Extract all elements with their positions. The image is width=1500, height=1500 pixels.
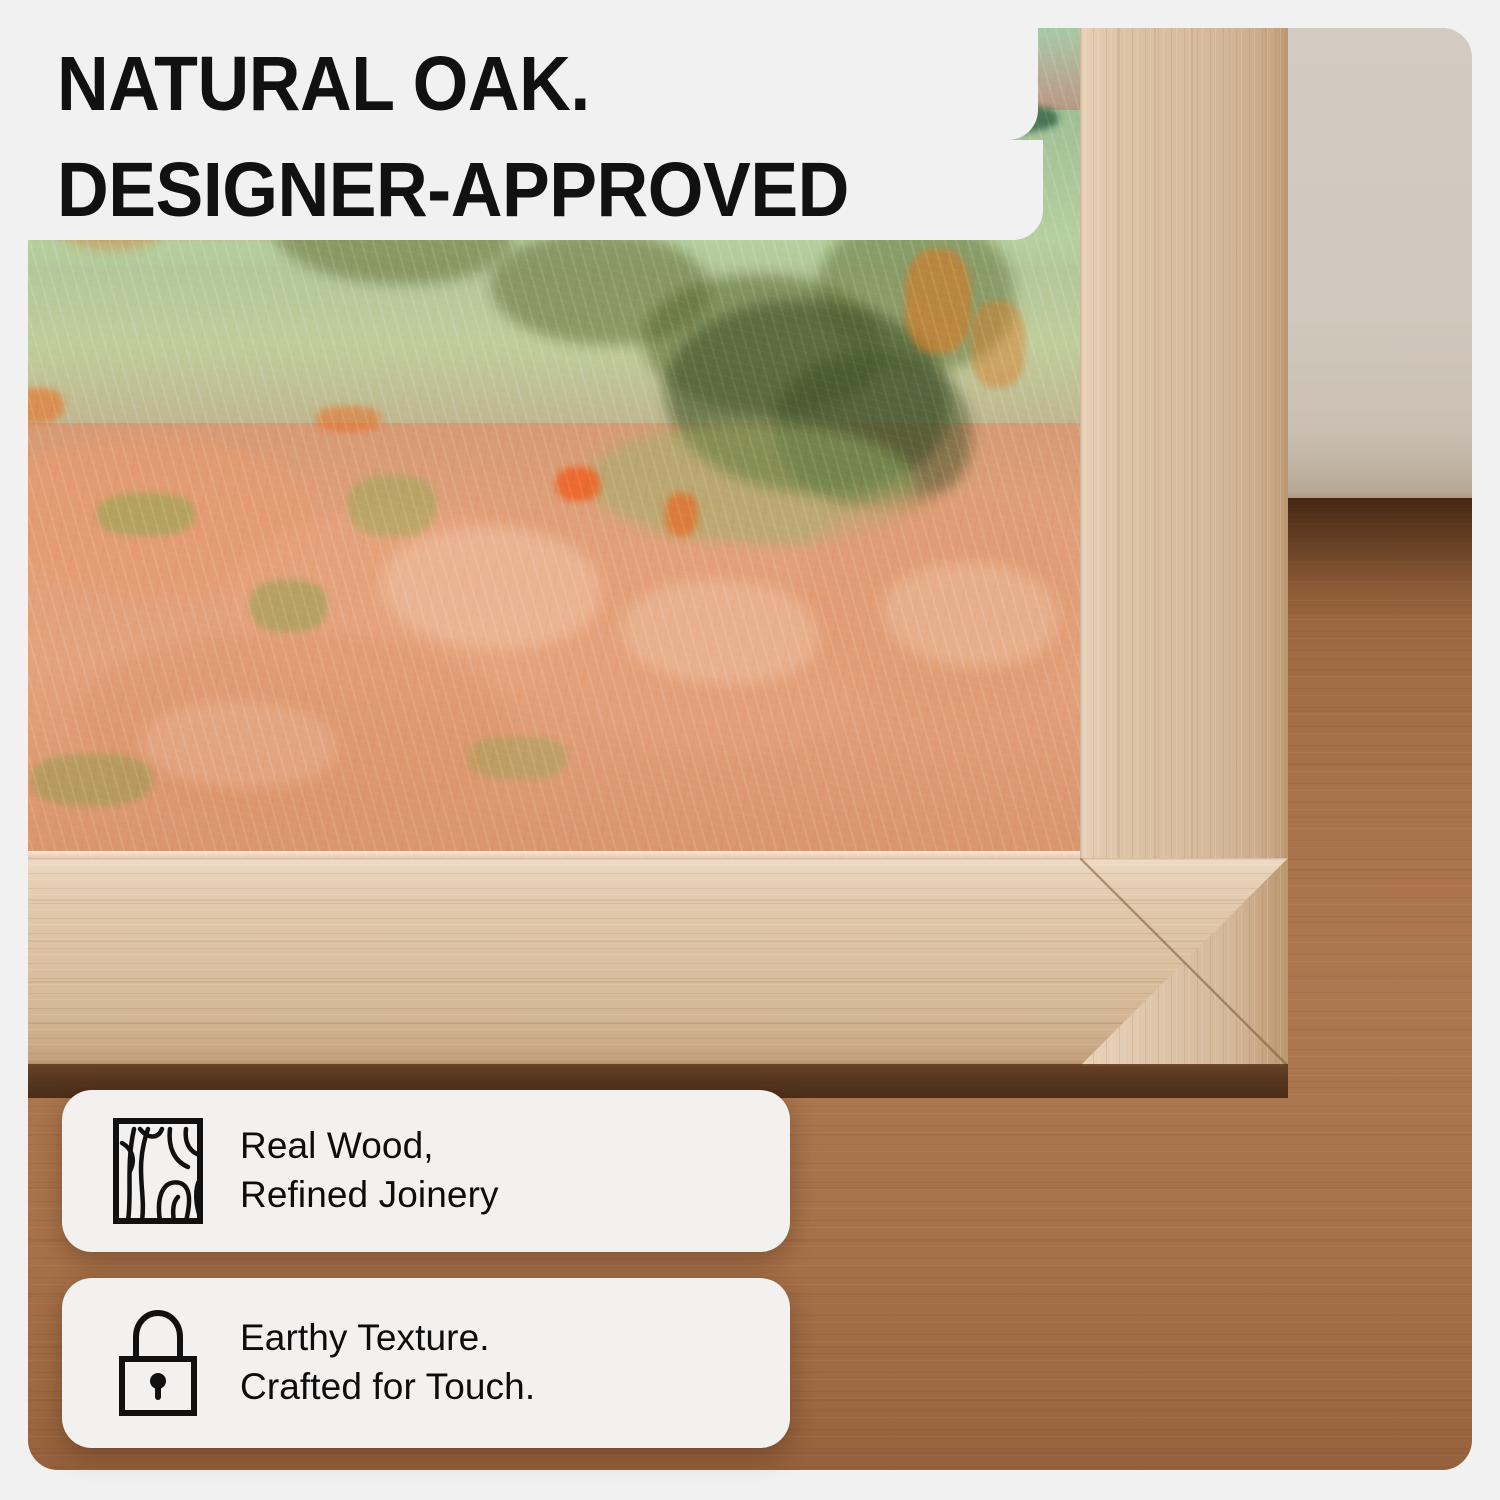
padlock-icon [112,1307,204,1419]
feature-line-1: Real Wood, [240,1122,499,1171]
headline-line-2: DESIGNER-APPROVED [57,146,849,235]
feature-line-2: Crafted for Touch. [240,1363,535,1412]
feature-badge-real-wood[interactable]: Real Wood, Refined Joinery [62,1090,790,1252]
headline-line-2-panel: DESIGNER-APPROVED [28,140,1043,240]
feature-badge-real-wood-text: Real Wood, Refined Joinery [240,1122,499,1220]
headline-line-1-panel: NATURAL OAK. [28,28,1038,140]
headline-block: NATURAL OAK. DESIGNER-APPROVED [28,28,1043,240]
feature-line-2: Refined Joinery [240,1171,499,1220]
feature-badge-earthy-texture-text: Earthy Texture. Crafted for Touch. [240,1314,535,1412]
product-photo [28,28,1472,1470]
wood-grain-icon [112,1117,204,1225]
feature-badge-earthy-texture[interactable]: Earthy Texture. Crafted for Touch. [62,1278,790,1448]
headline-line-1: NATURAL OAK. [57,40,590,129]
mitre-seam-line [1080,858,1288,1066]
feature-line-1: Earthy Texture. [240,1314,535,1363]
canvas-edge-highlight [28,851,1080,858]
